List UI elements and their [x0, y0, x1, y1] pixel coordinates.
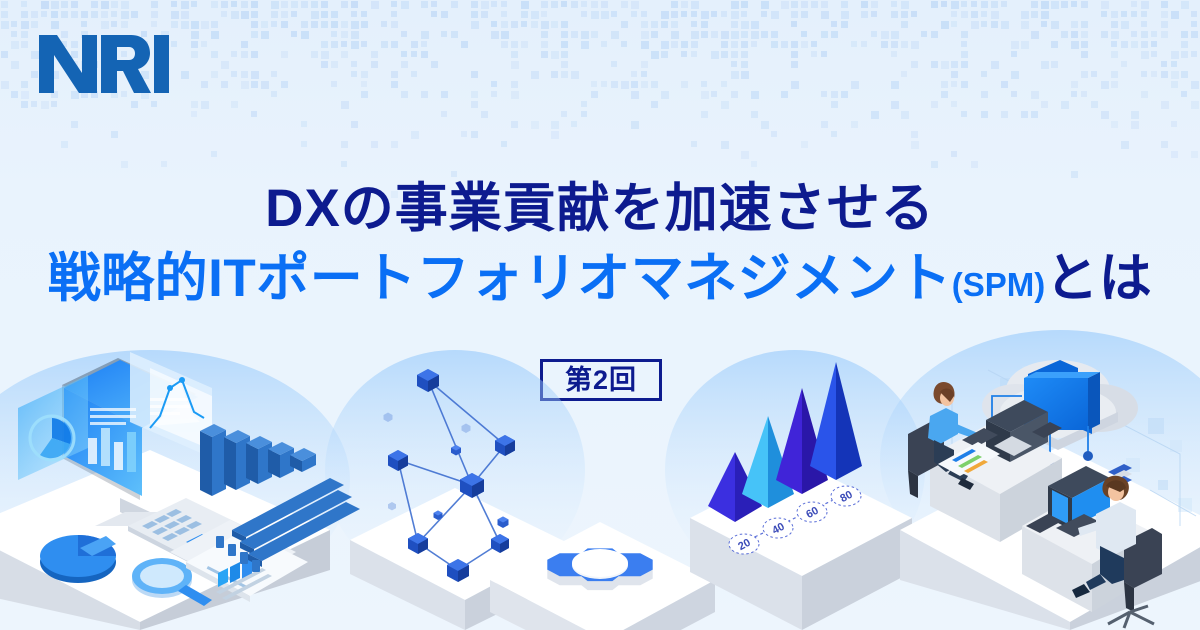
- pyramid-label-40: 40: [763, 518, 793, 538]
- page-title: DXの事業貢献を加速させる 戦略的ITポートフォリオマネジメント(SPM)とは: [0, 182, 1200, 305]
- nri-logo: [37, 33, 169, 95]
- pyramid-label-80: 80: [831, 486, 861, 506]
- headline-line-2-tail: とは: [1045, 249, 1152, 308]
- headline-line-2: 戦略的ITポートフォリオマネジメント(SPM)とは: [0, 252, 1200, 305]
- poster-canvas: DXの事業貢献を加速させる 戦略的ITポートフォリオマネジメント(SPM)とは …: [0, 0, 1200, 630]
- pie-chart: [40, 535, 116, 583]
- pyramid-label-20: 20: [729, 534, 759, 554]
- pyramid-label-60: 60: [797, 502, 827, 522]
- pixel-pattern-background: [0, 0, 1200, 200]
- gear-icon: [547, 548, 652, 590]
- headline-line-1: DXの事業貢献を加速させる: [0, 182, 1200, 235]
- headline-abbreviation: (SPM): [952, 266, 1046, 303]
- headline-line-2-main: 戦略的ITポートフォリオマネジメント: [48, 249, 952, 308]
- illustration-row: 20 40 60 80: [0, 330, 1200, 630]
